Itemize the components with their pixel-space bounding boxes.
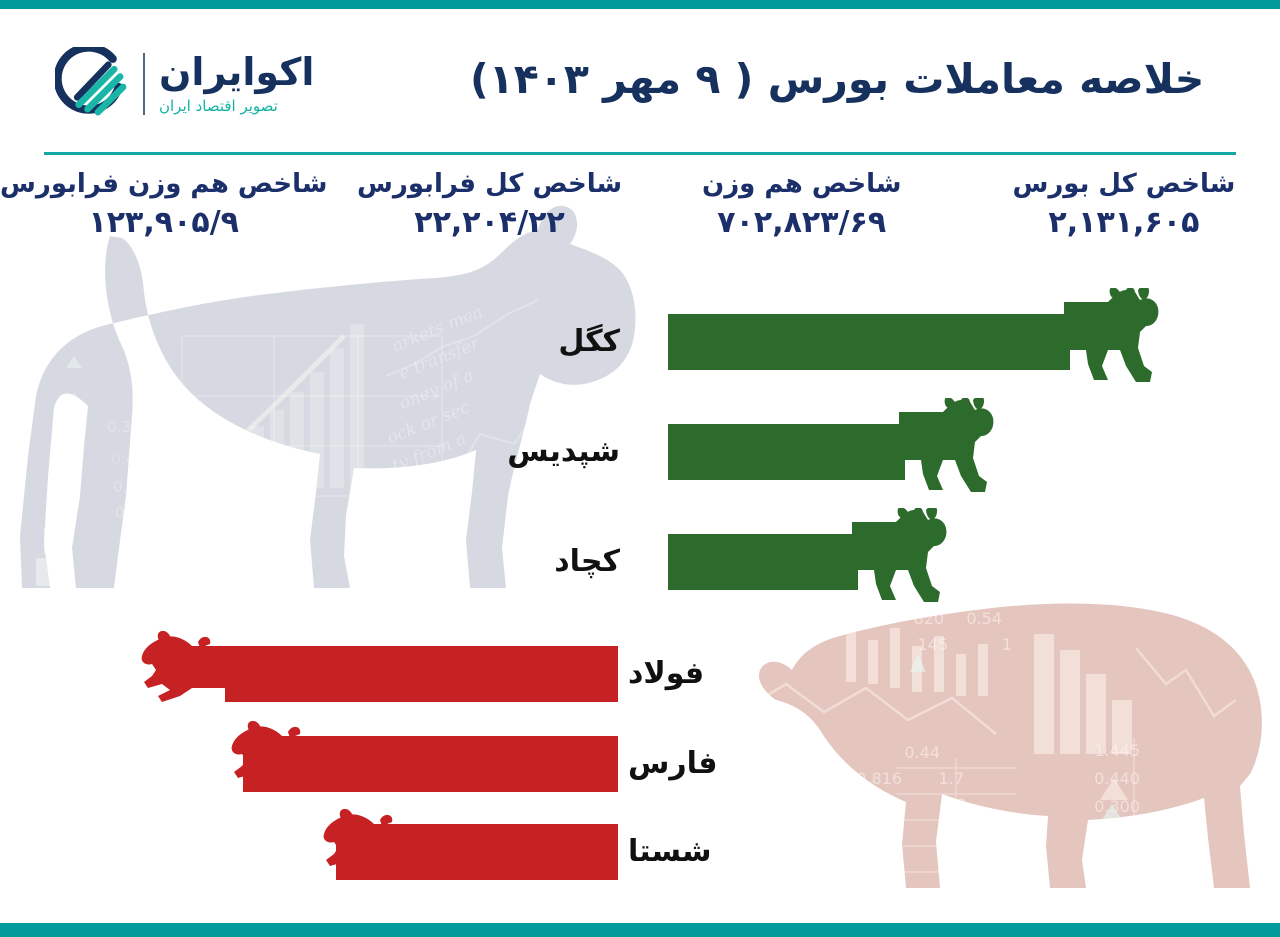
bear-icon [140,626,248,718]
bear-icon [322,804,430,896]
bar-positive-kchad [668,534,858,590]
bar-label-fars: فارس [628,722,718,806]
table-row: شستا [0,810,1280,894]
table-row: کچاد [0,520,1280,604]
stat-total-index: شاخص کل بورس ۲,۱۳۱,۶۰۵ [958,170,1280,262]
infographic-page: اکوایران تصویر اقتصاد ایران خلاصه معاملا… [0,0,1280,937]
bear-icon [230,716,338,808]
page-title: خلاصه معاملات بورس ( ۹ مهر ۱۴۰۳) [0,55,1240,103]
stat-value: ۲,۱۳۱,۶۰۵ [968,203,1280,242]
bar-negative-foolad [225,646,618,702]
bar-positive-kgol [668,314,1070,370]
page-title-text: خلاصه معاملات بورس ( ۹ مهر ۱۴۰۳) [470,55,1204,103]
bull-icon [852,508,948,612]
table-row: کگل [0,300,1280,384]
bar-label-kchad: کچاد [554,520,620,604]
bottom-accent-rule [0,923,1280,937]
stat-value: ۱۲۳,۹۰۵/۹ [0,203,327,242]
header: اکوایران تصویر اقتصاد ایران خلاصه معاملا… [0,9,1280,149]
effect-bar-chart: کگل شپدیس کچاد [0,262,1280,902]
bull-icon [899,398,995,502]
bar-positive-shapdis [668,424,905,480]
table-row: شپدیس [0,410,1280,494]
index-stats-strip: شاخص کل بورس ۲,۱۳۱,۶۰۵ شاخص هم وزن ۷۰۲,۸… [0,170,1280,262]
bar-label-kgol: کگل [558,300,620,384]
stat-farabourse-total-index: شاخص کل فرابورس ۲۲,۲۰۴/۲۲ [333,170,645,262]
stat-value: ۷۰۲,۸۲۳/۶۹ [646,203,958,242]
bar-label-shasta: شستا [628,810,712,894]
top-accent-rule [0,0,1280,9]
bull-icon [1064,288,1160,392]
bar-label-shapdis: شپدیس [507,410,620,494]
stat-value: ۲۲,۲۰۴/۲۲ [333,203,645,242]
stat-farabourse-equal-weight-index: شاخص هم وزن فرابورس ۱۲۳,۹۰۵/۹ [0,170,333,262]
table-row: فولاد [0,632,1280,716]
stat-label: شاخص کل بورس [968,170,1280,200]
stat-label: شاخص هم وزن فرابورس [0,170,327,200]
header-divider-rule [44,152,1236,155]
stat-label: شاخص هم وزن [646,170,958,200]
table-row: فارس [0,722,1280,806]
bar-label-foolad: فولاد [628,632,704,716]
stat-equal-weight-index: شاخص هم وزن ۷۰۲,۸۲۳/۶۹ [646,170,958,262]
stat-label: شاخص کل فرابورس [333,170,645,200]
